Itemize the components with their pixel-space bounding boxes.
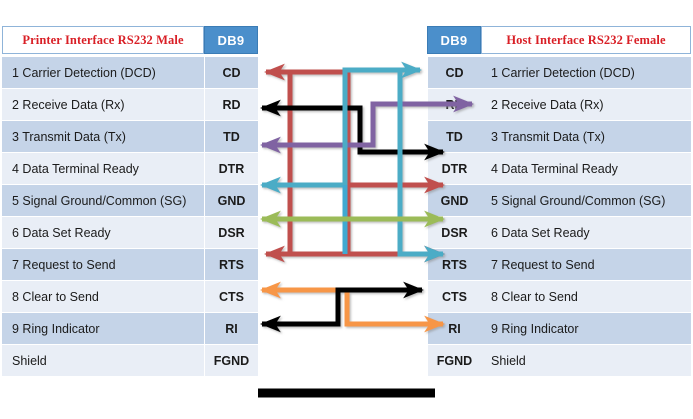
table-row: RI 9 Ring Indicator <box>427 313 691 345</box>
pin-signal: TD <box>204 121 258 152</box>
table-row: 9 Ring Indicator RI <box>2 313 258 345</box>
pin-signal: TD <box>427 121 481 152</box>
table-row: 2 Receive Data (Rx) RD <box>2 89 258 121</box>
pin-signal: RTS <box>204 249 258 280</box>
pin-description: Shield <box>481 345 691 376</box>
pin-description: 9 Ring Indicator <box>481 313 691 344</box>
table-row: GND 5 Signal Ground/Common (SG) <box>427 185 691 217</box>
pin-signal: DTR <box>427 153 481 184</box>
left-pin-rows: 1 Carrier Detection (DCD) CD 2 Receive D… <box>2 57 258 377</box>
pin-signal: RI <box>204 313 258 344</box>
pin-signal: CD <box>204 57 258 88</box>
pin-description: 9 Ring Indicator <box>2 313 204 344</box>
pin-description: 8 Clear to Send <box>481 281 691 312</box>
pin-description: Shield <box>2 345 204 376</box>
pin-signal: GND <box>204 185 258 216</box>
wire-dtr-left-to-cd-right-teal <box>262 70 420 185</box>
pin-description: 3 Transmit Data (Tx) <box>2 121 204 152</box>
pin-signal: RD <box>427 89 481 120</box>
table-row: CTS 8 Clear to Send <box>427 281 691 313</box>
pin-signal: RTS <box>427 249 481 280</box>
pin-signal: RD <box>204 89 258 120</box>
wire-cd-to-dsr-red <box>266 72 443 254</box>
pin-description: 6 Data Set Ready <box>481 217 691 248</box>
pin-description: 7 Request to Send <box>481 249 691 280</box>
wire-td-right-to-rd-left-black <box>262 108 443 152</box>
pin-signal: DTR <box>204 153 258 184</box>
table-row: 6 Data Set Ready DSR <box>2 217 258 249</box>
pin-signal: FGND <box>204 345 258 376</box>
pin-description: 3 Transmit Data (Tx) <box>481 121 691 152</box>
pin-description: 4 Data Terminal Ready <box>2 153 204 184</box>
rs232-wiring-diagram: Printer Interface RS232 Male DB9 1 Carri… <box>0 0 693 419</box>
pin-signal: DSR <box>204 217 258 248</box>
wire-rts-to-cts-orange <box>262 290 443 324</box>
table-row: RTS 7 Request to Send <box>427 249 691 281</box>
table-row: 5 Signal Ground/Common (SG) GND <box>2 185 258 217</box>
right-pin-rows: CD 1 Carrier Detection (DCD) RD 2 Receiv… <box>427 57 691 377</box>
pin-description: 5 Signal Ground/Common (SG) <box>2 185 204 216</box>
right-panel-title: Host Interface RS232 Female <box>481 26 691 54</box>
pin-signal: FGND <box>427 345 481 376</box>
right-panel-header: DB9 Host Interface RS232 Female <box>427 26 691 54</box>
pin-description: 7 Request to Send <box>2 249 204 280</box>
pin-signal: CD <box>427 57 481 88</box>
pin-description: 5 Signal Ground/Common (SG) <box>481 185 691 216</box>
table-row: 7 Request to Send RTS <box>2 249 258 281</box>
table-row: FGND Shield <box>427 345 691 377</box>
right-interface-panel: DB9 Host Interface RS232 Female CD 1 Car… <box>427 26 691 377</box>
table-row: 3 Transmit Data (Tx) TD <box>2 121 258 153</box>
table-row: Shield FGND <box>2 345 258 377</box>
wire-dsr-to-dtr-red <box>266 72 348 254</box>
left-interface-panel: Printer Interface RS232 Male DB9 1 Carri… <box>2 26 258 377</box>
pin-description: 1 Carrier Detection (DCD) <box>481 57 691 88</box>
table-row: 4 Data Terminal Ready DTR <box>2 153 258 185</box>
pin-description: 1 Carrier Detection (DCD) <box>2 57 204 88</box>
pin-description: 2 Receive Data (Rx) <box>481 89 691 120</box>
wire-rts-right-to-cts-left-black <box>262 290 422 324</box>
table-row: CD 1 Carrier Detection (DCD) <box>427 57 691 89</box>
pin-signal: RI <box>427 313 481 344</box>
table-row: DTR 4 Data Terminal Ready <box>427 153 691 185</box>
left-panel-header: Printer Interface RS232 Male DB9 <box>2 26 258 54</box>
right-db9-header: DB9 <box>427 26 481 54</box>
left-panel-title: Printer Interface RS232 Male <box>2 26 204 54</box>
pin-description: 4 Data Terminal Ready <box>481 153 691 184</box>
pin-description: 6 Data Set Ready <box>2 217 204 248</box>
table-row: TD 3 Transmit Data (Tx) <box>427 121 691 153</box>
pin-description: 8 Clear to Send <box>2 281 204 312</box>
pin-signal: GND <box>427 185 481 216</box>
table-row: 8 Clear to Send CTS <box>2 281 258 313</box>
pin-description: 2 Receive Data (Rx) <box>2 89 204 120</box>
table-row: RD 2 Receive Data (Rx) <box>427 89 691 121</box>
table-row: DSR 6 Data Set Ready <box>427 217 691 249</box>
table-row: 1 Carrier Detection (DCD) CD <box>2 57 258 89</box>
left-db9-header: DB9 <box>204 26 258 54</box>
pin-signal: CTS <box>427 281 481 312</box>
pin-signal: DSR <box>427 217 481 248</box>
pin-signal: CTS <box>204 281 258 312</box>
